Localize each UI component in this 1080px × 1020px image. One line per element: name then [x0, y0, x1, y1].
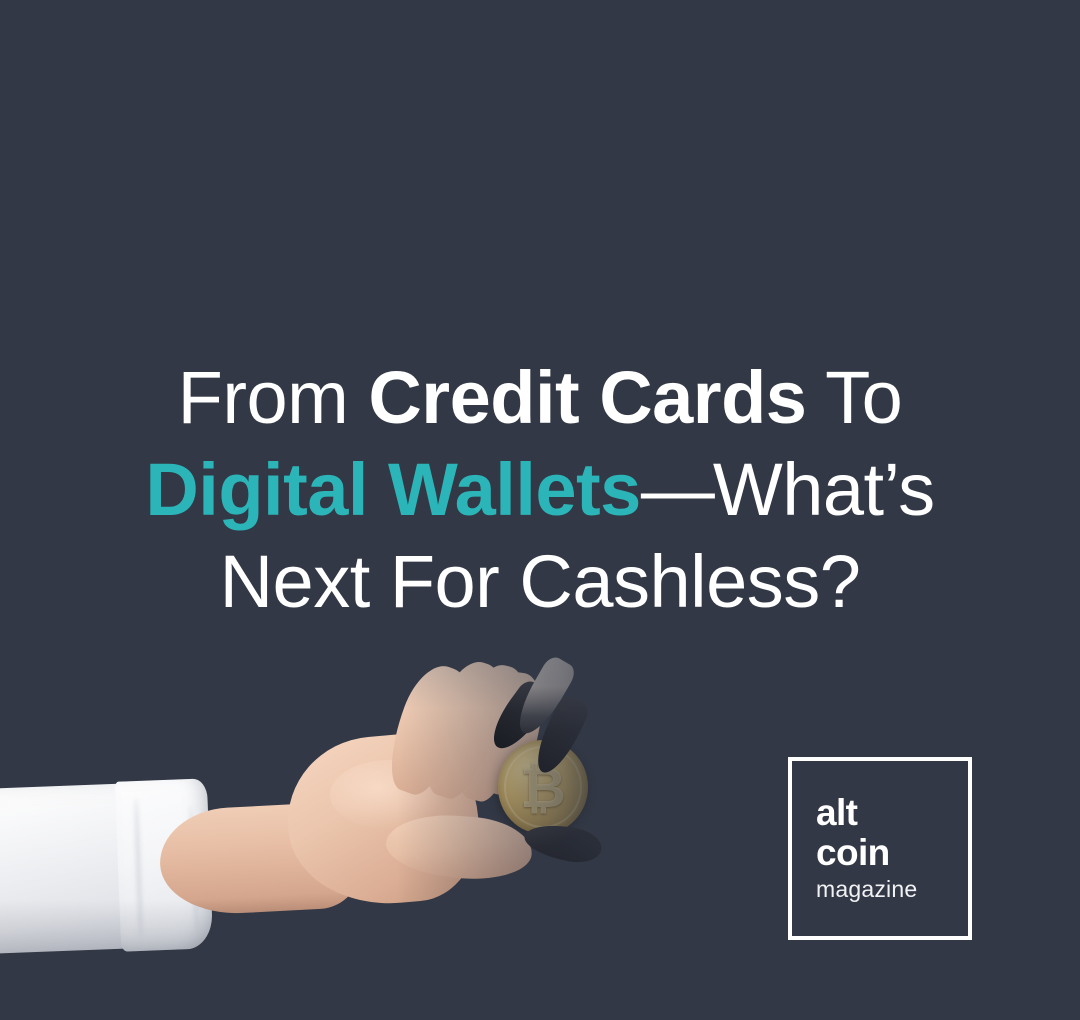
headline-line1-part2: Credit Cards — [368, 356, 806, 439]
logo-text-group: alt coin magazine — [816, 793, 956, 905]
headline-line-2: Digital Wallets—What’s — [0, 444, 1080, 536]
headline-line-1: From Credit Cards To — [0, 352, 1080, 444]
headline-line1-part1: From — [178, 356, 369, 439]
headline-em-dash: — — [641, 448, 713, 531]
headline-line1-part3: To — [806, 356, 902, 439]
poster-canvas: From Credit Cards To Digital Wallets—Wha… — [0, 0, 1080, 1020]
logo-line-magazine: magazine — [816, 873, 956, 905]
hand-holding-bitcoin-photo: ₿ — [0, 620, 640, 1020]
headline-line3-text: Next For Cashless? — [220, 540, 861, 623]
logo-line-coin: coin — [816, 833, 956, 873]
headline-line2-accent: Digital Wallets — [145, 448, 641, 531]
page-title: From Credit Cards To Digital Wallets—Wha… — [0, 352, 1080, 628]
logo-line-alt: alt — [816, 793, 956, 833]
headline-line-3: Next For Cashless? — [0, 536, 1080, 628]
headline-line2-part2: What’s — [713, 448, 935, 531]
altcoin-magazine-logo[interactable]: alt coin magazine — [788, 757, 972, 940]
